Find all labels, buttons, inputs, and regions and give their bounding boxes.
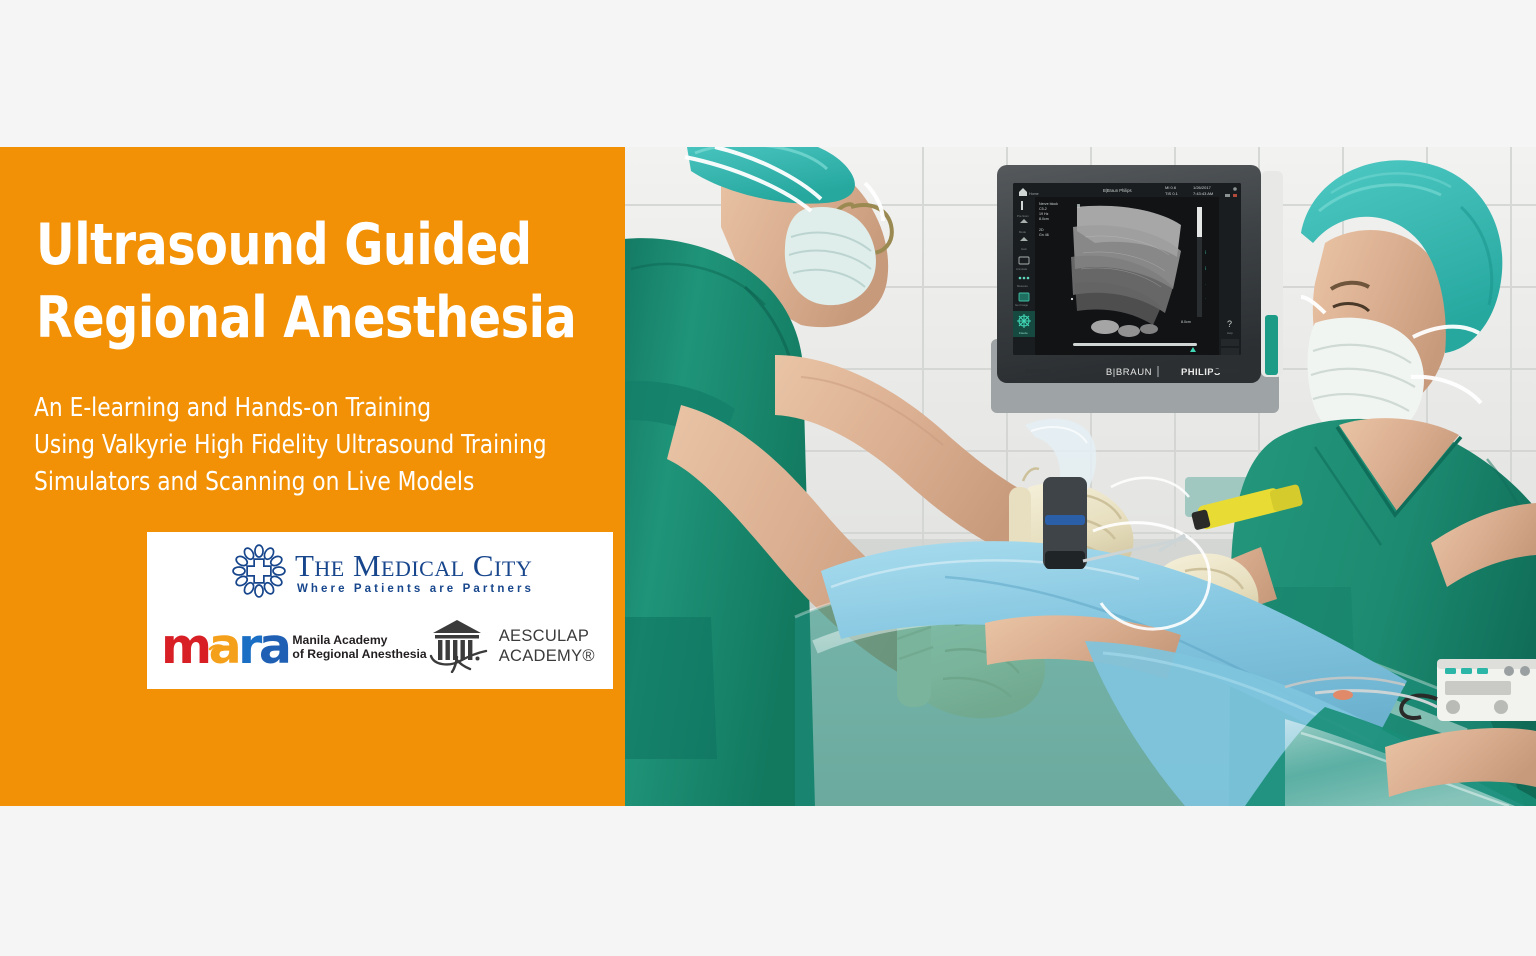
secondary-logos-row: mara Manila Academy <box>147 607 613 687</box>
svg-text:Annotate: Annotate <box>1016 267 1028 271</box>
flower-cross-icon <box>232 544 286 603</box>
svg-text:19 Hz: 19 Hz <box>1039 212 1049 216</box>
subtitle-line-2: Using Valkyrie High Fidelity Ultrasound … <box>34 427 573 464</box>
svg-text:Measure: Measure <box>1017 284 1028 288</box>
photo-illustration: Home B|Braun Philips MI 0.6 TIS 0.1 1/26… <box>625 147 1536 806</box>
page-subtitle: An E-learning and Hands-on Training Usin… <box>34 390 614 501</box>
procedure-photograph: Home B|Braun Philips MI 0.6 TIS 0.1 1/26… <box>625 147 1536 806</box>
mara-subtitle: Manila Academy of Regional Anesthesia <box>292 633 426 662</box>
promotional-banner: Ultrasound Guided Regional Anesthesia An… <box>0 147 1536 806</box>
svg-text:Get Image: Get Image <box>1015 303 1029 307</box>
svg-text:8.0cm: 8.0cm <box>1039 217 1049 221</box>
svg-text:Gn 46: Gn 46 <box>1039 233 1049 237</box>
aesculap-line-1: AESCULAP <box>499 627 595 647</box>
greek-temple-swoosh-icon <box>427 617 489 678</box>
screen-depth-label: 8.0cm <box>1181 320 1191 324</box>
mara-letter-m: m <box>161 618 209 675</box>
the-medical-city-name: The Medical City <box>295 550 534 581</box>
subtitle-line-3: Simulators and Scanning on Live Models <box>34 464 573 501</box>
screen-help-label: Help <box>1227 331 1233 335</box>
title-line-2: Regional Anesthesia <box>36 282 557 355</box>
sponsor-logo-card: The Medical City Where Patients are Part… <box>147 532 613 689</box>
question-mark-icon: ? <box>1227 319 1232 329</box>
aesculap-academy-logo: AESCULAP ACADEMY® <box>427 617 595 678</box>
screen-brand-label: B|Braun Philips <box>1103 188 1132 193</box>
wifi-signal-icon <box>205 611 231 628</box>
svg-text:Nerve block: Nerve block <box>1039 202 1058 206</box>
orange-title-panel: Ultrasound Guided Regional Anesthesia An… <box>0 147 625 806</box>
svg-text:Freeze: Freeze <box>1019 331 1028 335</box>
subtitle-line-1: An E-learning and Hands-on Training <box>34 390 573 427</box>
mara-letter-a2: a <box>259 618 289 675</box>
svg-text:C5-2: C5-2 <box>1039 207 1047 211</box>
screen-date-label: 1/26/2017 <box>1193 185 1212 190</box>
the-medical-city-logo: The Medical City Where Patients are Part… <box>147 541 613 605</box>
monitor-brand-left: B|BRAUN <box>1106 367 1152 378</box>
aesculap-academy-text: AESCULAP ACADEMY® <box>499 627 595 667</box>
aesculap-line-2: ACADEMY® <box>499 647 595 667</box>
svg-text:.: . <box>1205 282 1206 286</box>
the-medical-city-tagline: Where Patients are Partners <box>297 584 534 596</box>
mara-letter-r: r <box>238 618 259 675</box>
svg-text:.: . <box>1205 296 1206 300</box>
mara-subtitle-line-1: Manila Academy <box>292 633 426 647</box>
svg-text:2D: 2D <box>1039 228 1044 232</box>
ultrasound-monitor: Home B|Braun Philips MI 0.6 TIS 0.1 1/26… <box>991 165 1283 413</box>
svg-text:Pre-Scan: Pre-Scan <box>1017 214 1029 218</box>
mara-subtitle-line-2: of Regional Anesthesia <box>292 647 426 661</box>
screen-home-label: Home <box>1029 192 1039 196</box>
mara-logo: mara Manila Academy <box>161 623 427 671</box>
svg-text:Mode: Mode <box>1019 230 1026 234</box>
screen-tis-label: TIS 0.1 <box>1165 191 1179 196</box>
screen-time-label: 7:43:43 AM <box>1193 191 1213 196</box>
mara-wordmark: mara <box>161 623 288 671</box>
page-title: Ultrasound Guided Regional Anesthesia <box>36 209 596 355</box>
svg-text:Gain: Gain <box>1021 247 1027 251</box>
the-medical-city-text: The Medical City Where Patients are Part… <box>295 550 534 596</box>
title-line-1: Ultrasound Guided <box>36 209 557 282</box>
screen-mi-label: MI 0.6 <box>1165 185 1177 190</box>
stimulator-buttons <box>1445 668 1488 674</box>
